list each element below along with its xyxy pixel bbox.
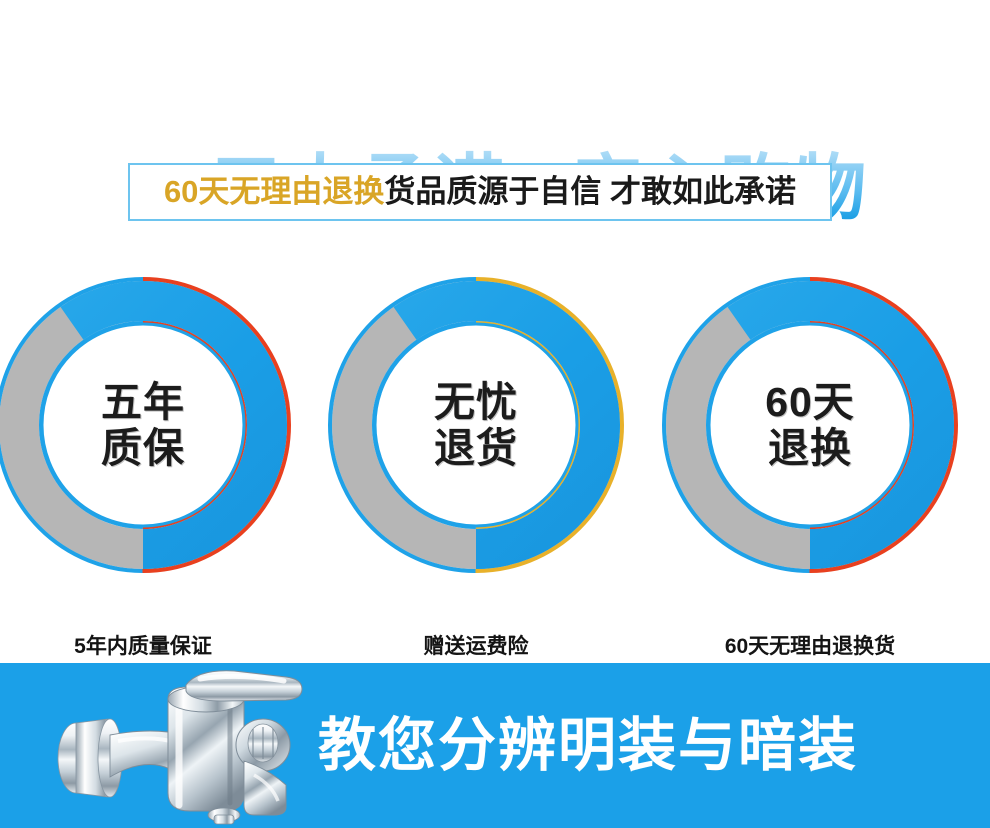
bath-faucet-icon xyxy=(48,665,348,828)
badge-inner-disc xyxy=(710,325,910,525)
promise-statement-box: 60天无理由退换货品质源于自信 才敢如此承诺 xyxy=(128,163,832,221)
product-detail-page: 三大承诺 安心购物 60天无理由退换货品质源于自信 才敢如此承诺 xyxy=(0,0,990,828)
guarantee-badge-warranty: 五年 质保 xyxy=(0,275,293,575)
section-banner: 教您分辨明装与暗装 xyxy=(0,663,990,828)
guarantee-badge-worryfree-return: 无忧 退货 xyxy=(326,275,626,575)
caption-line1: 赠送运费险 xyxy=(311,634,641,660)
promise-statement-text: 60天无理由退换货品质源于自信 才敢如此承诺 xyxy=(164,175,796,209)
badge-caption-group: 5年内质量保证 品质承诺 赠送运费险 免费退换 货 60天无理由退换货 不喜欢随… xyxy=(0,582,990,652)
banner-title: 教您分辨明装与暗装 xyxy=(318,713,858,779)
faucet-outlet xyxy=(214,815,234,824)
caption-line1: 60天无理由退换货 xyxy=(645,634,975,660)
badge-inner-disc xyxy=(376,325,576,525)
caption-line1: 5年内质量保证 xyxy=(0,634,308,660)
promise-highlight: 60天无理由退换 xyxy=(164,174,384,209)
guarantee-badge-60day-return: 60天 退换 xyxy=(660,275,960,575)
guarantee-badge-group: 五年 质保 xyxy=(0,275,990,575)
promise-rest: 货品质源于自信 才敢如此承诺 xyxy=(384,174,796,209)
badge-inner-disc xyxy=(43,325,243,525)
